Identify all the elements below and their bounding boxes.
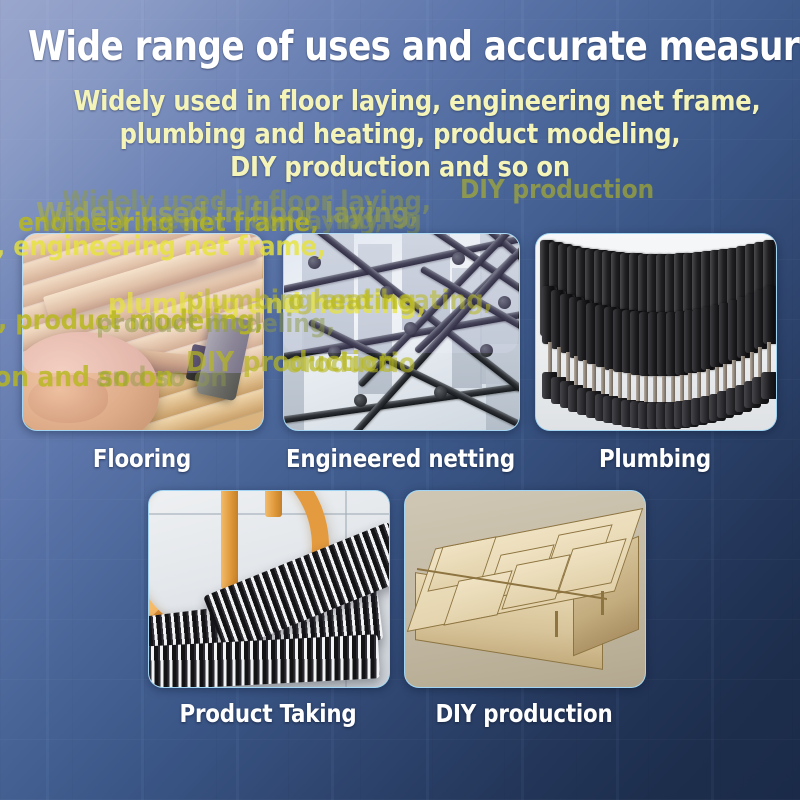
photo-product-taking (149, 491, 389, 687)
page-subtitle: Widely used in floor laying, engineering… (74, 84, 727, 183)
truss-node (480, 344, 493, 357)
truss-node (498, 296, 511, 309)
truss-node (404, 322, 417, 335)
card-caption-flooring: Flooring (28, 445, 256, 472)
usage-card-product-taking[interactable] (148, 490, 390, 688)
usage-card-plumbing[interactable] (535, 233, 777, 431)
card-caption-diy-production: DIY production (410, 700, 638, 727)
tube-foot (761, 372, 776, 399)
metal-rod (566, 352, 570, 385)
usage-card-flooring[interactable] (22, 233, 264, 431)
usage-card-engineered-netting[interactable] (283, 233, 520, 431)
photo-diy-production (405, 491, 645, 687)
box-tab-slot (555, 611, 558, 637)
card-caption-product-taking: Product Taking (154, 700, 382, 727)
background-building (284, 294, 304, 430)
truss-node (308, 256, 321, 269)
subtitle-line-3: DIY production and so on (74, 150, 727, 183)
truss-node (452, 252, 465, 265)
box-tab-slot (601, 591, 604, 615)
photo-flooring (23, 234, 263, 430)
photo-engineered-netting (284, 234, 519, 430)
ring-support-post (221, 491, 238, 589)
insulation-tube-front (763, 286, 776, 344)
ring-support-post (265, 491, 282, 517)
promo-banner: Wide range of uses and accurate measurem… (0, 0, 800, 800)
thumb (28, 375, 108, 423)
metal-rod (767, 342, 771, 376)
metal-rod (548, 342, 552, 376)
truss-node (380, 286, 393, 299)
metal-rod (574, 356, 578, 388)
truss-node (354, 394, 367, 407)
card-caption-engineered-netting: Engineered netting (284, 445, 517, 472)
subtitle-line-2: plumbing and heating, product modeling, (74, 117, 727, 150)
page-title: Wide range of uses and accurate measurem… (28, 24, 772, 68)
card-caption-plumbing: Plumbing (541, 445, 769, 472)
metal-rod (557, 347, 561, 380)
usage-card-diy-production[interactable] (404, 490, 646, 688)
photo-plumbing (536, 234, 776, 430)
subtitle-line-1: Widely used in floor laying, engineering… (74, 84, 727, 117)
truss-node (434, 386, 447, 399)
truss-node (328, 346, 341, 359)
